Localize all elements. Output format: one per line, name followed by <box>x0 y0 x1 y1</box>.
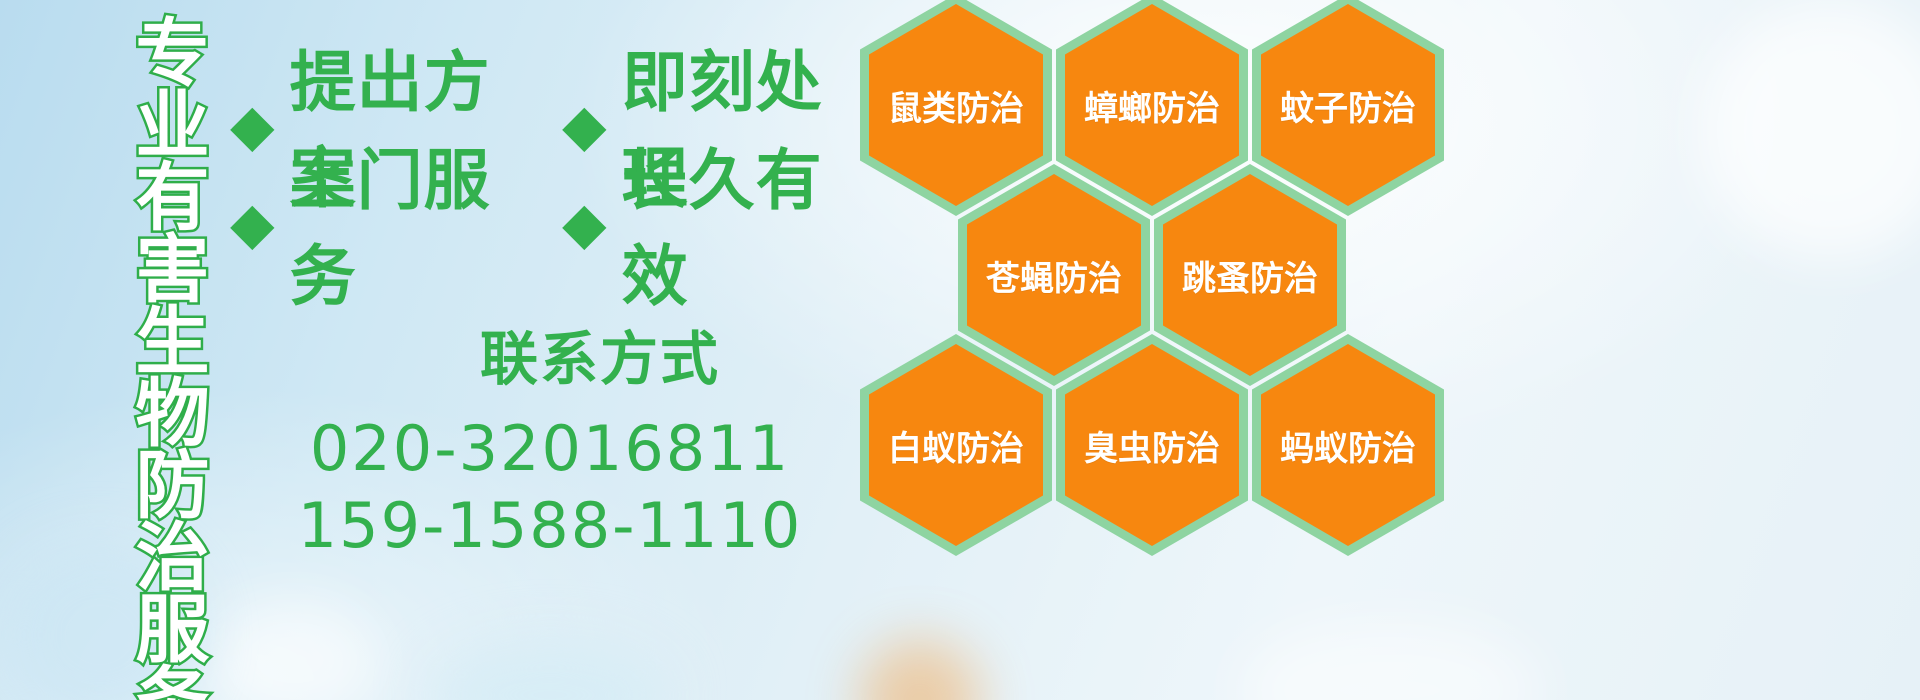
feature-label: 长久有效 <box>622 127 870 319</box>
service-honeycomb: 鼠类防治 蟑螂防治 蚊子防治 苍蝇防治 跳蚤防治 白蚁防治 <box>856 0 1476 700</box>
vertical-service-title: 专业有害生物防治服务 <box>96 14 200 554</box>
service-hex-label: 臭虫防治 <box>1084 421 1220 470</box>
feature-list: ◆ 提出方案 ◆ 即刻处理 ◆ 上门服务 ◆ 长久有效 <box>230 76 870 272</box>
background-blur-blob <box>210 600 380 700</box>
service-hex-label: 苍蝇防治 <box>986 251 1122 300</box>
diamond-bullet-icon: ◆ <box>230 194 276 252</box>
service-hex-label: 蚊子防治 <box>1280 81 1416 130</box>
background-blur-blob <box>1700 0 1920 260</box>
service-hex-bedbug[interactable]: 臭虫防治 <box>1056 334 1248 556</box>
service-hex-label: 鼠类防治 <box>888 81 1024 130</box>
service-hex-label: 白蚁防治 <box>888 421 1024 470</box>
feature-row: ◆ 上门服务 ◆ 长久有效 <box>230 174 870 272</box>
diamond-bullet-icon: ◆ <box>562 194 608 252</box>
banner-canvas: 专业有害生物防治服务 ◆ 提出方案 ◆ 即刻处理 ◆ 上门服务 ◆ 长久有效 联… <box>0 0 1920 700</box>
contact-heading: 联系方式 <box>230 312 870 396</box>
diamond-bullet-icon: ◆ <box>230 96 276 154</box>
background-blur-blob <box>430 640 670 700</box>
contact-block: 联系方式 020-32016811 159-1588-1110 <box>230 312 870 566</box>
service-hex-termite[interactable]: 白蚁防治 <box>860 334 1052 556</box>
diamond-bullet-icon: ◆ <box>562 96 608 154</box>
service-hex-label: 跳蚤防治 <box>1182 251 1318 300</box>
service-hex-ant[interactable]: 蚂蚁防治 <box>1252 334 1444 556</box>
service-hex-label: 蟑螂防治 <box>1084 81 1220 130</box>
phone-number-mobile[interactable]: 159-1588-1110 <box>230 489 870 562</box>
feature-label: 上门服务 <box>290 127 538 319</box>
phone-number-landline[interactable]: 020-32016811 <box>230 412 870 485</box>
service-hex-label: 蚂蚁防治 <box>1280 421 1416 470</box>
